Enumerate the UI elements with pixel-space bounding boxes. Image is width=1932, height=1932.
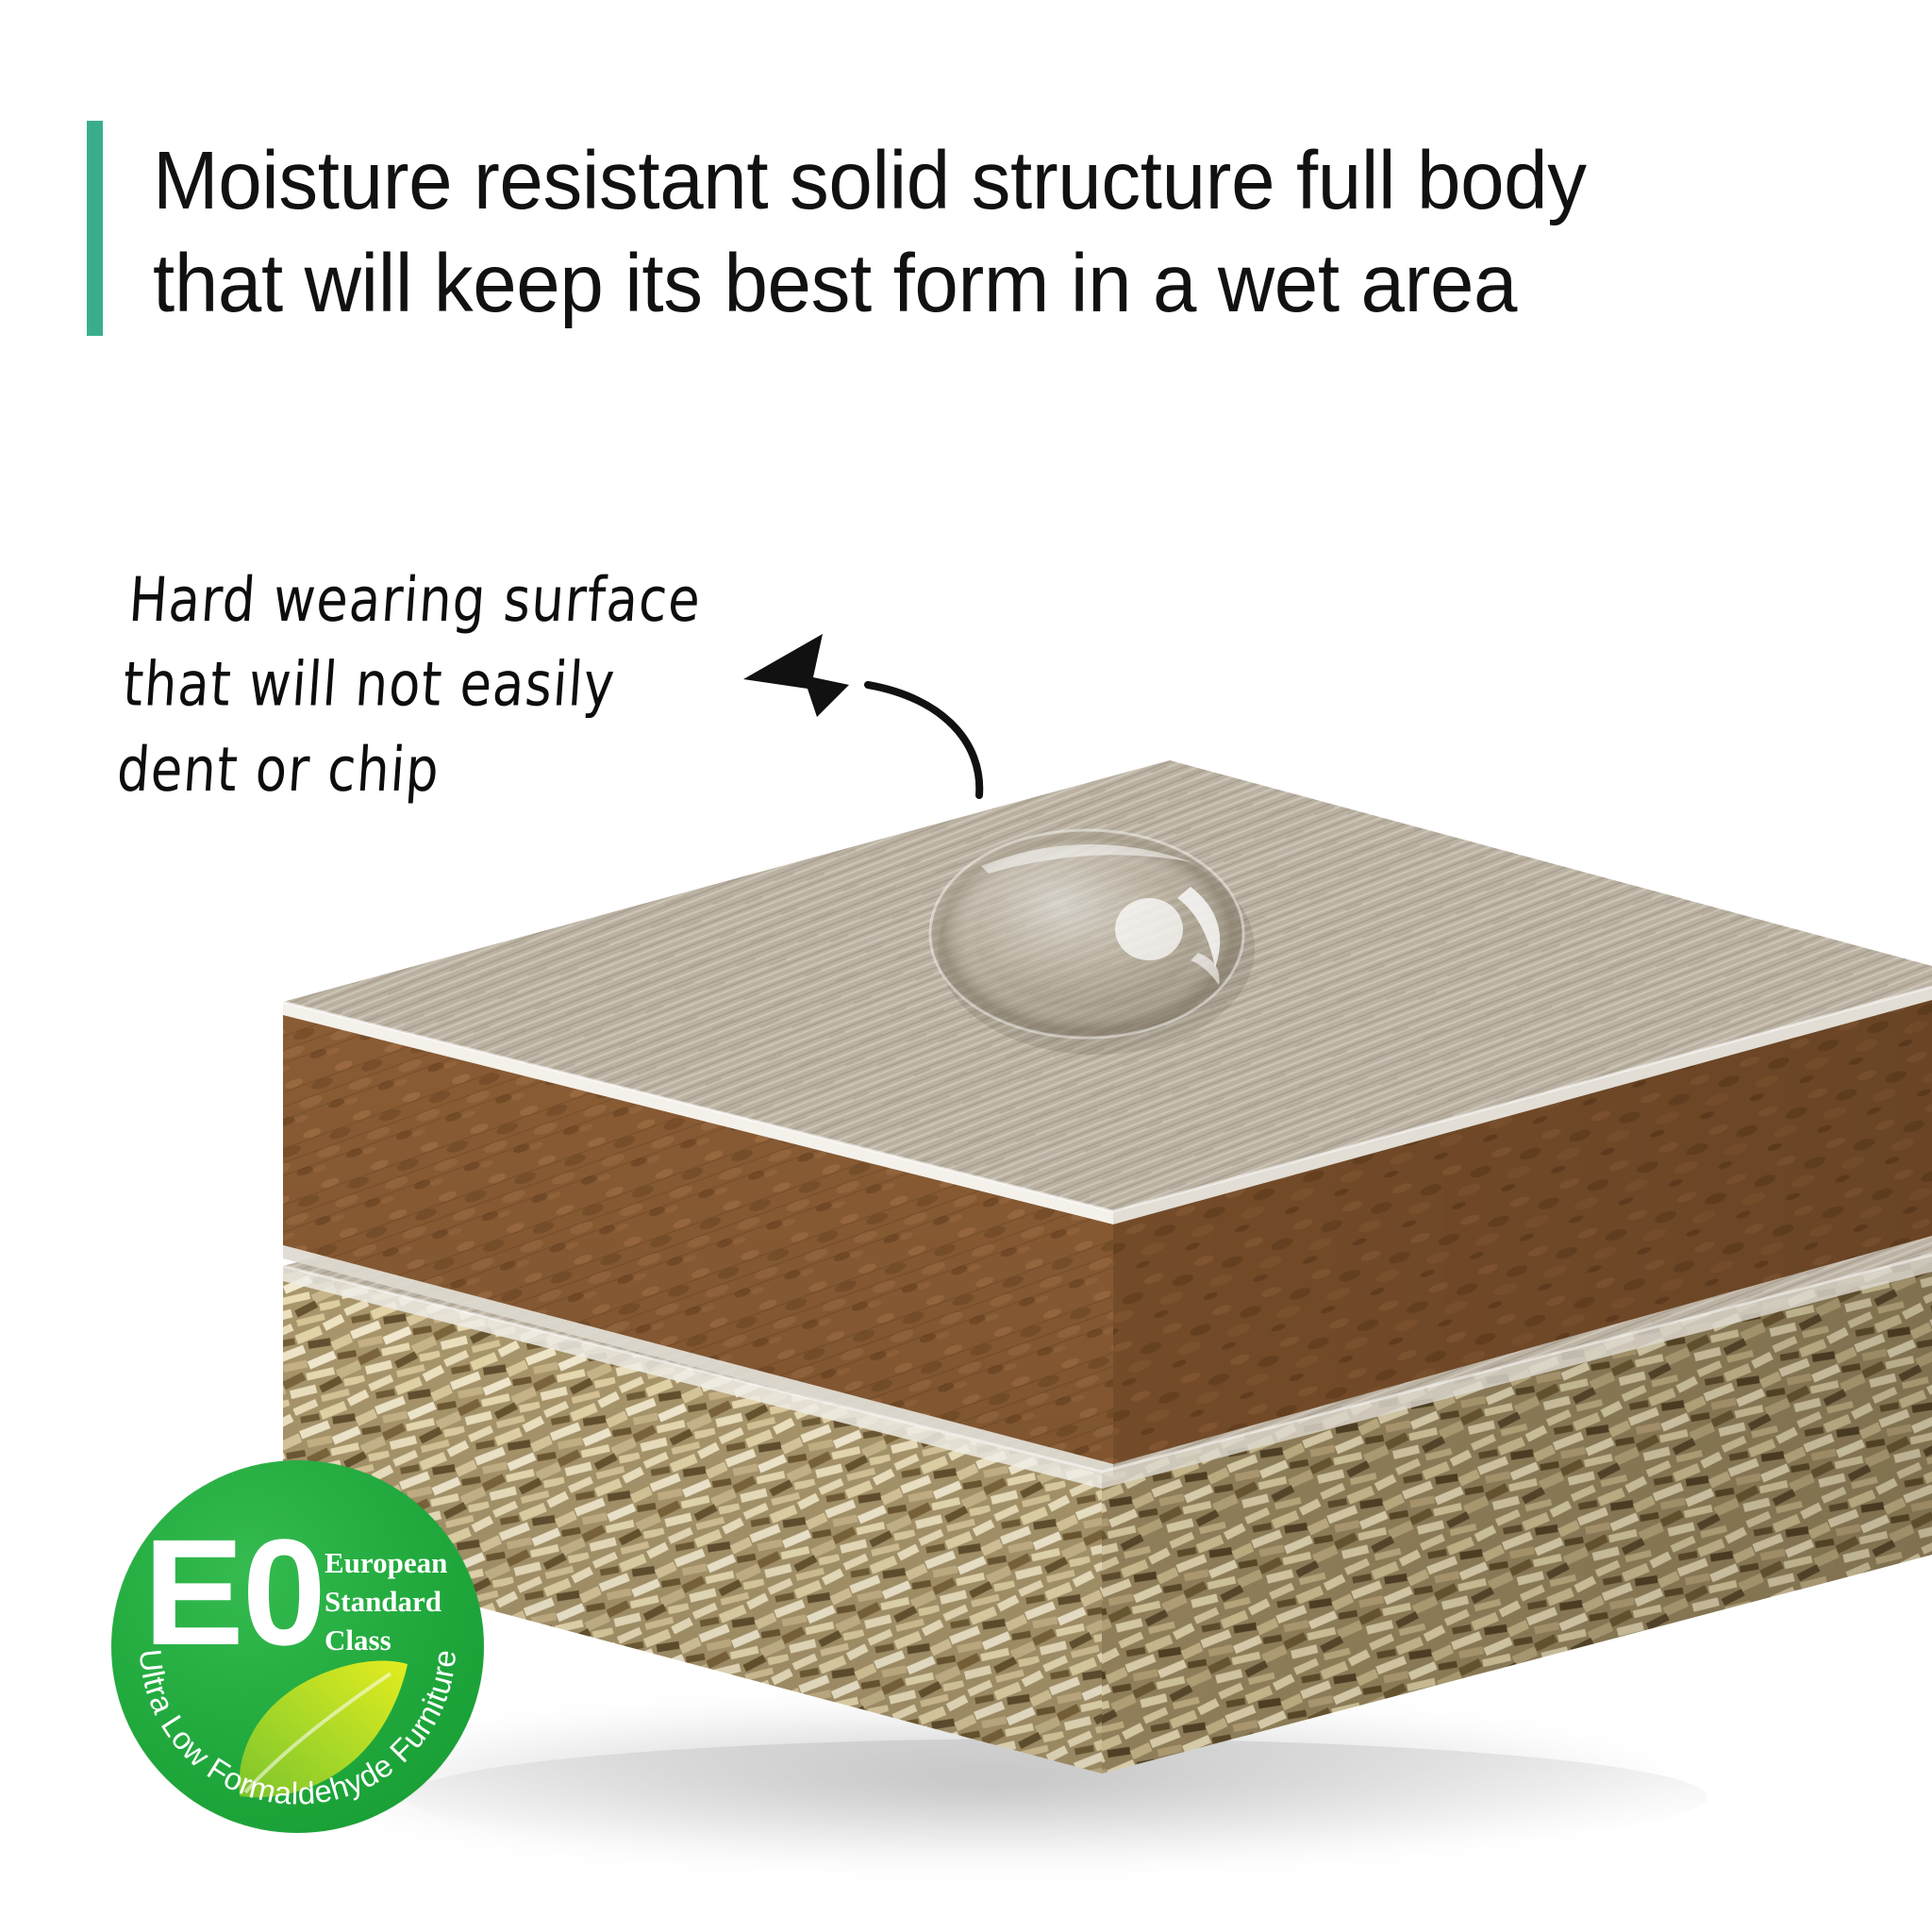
annotation-line-2: that will not easily — [120, 643, 697, 728]
infographic-canvas: Moisture resistant solid structure full … — [0, 0, 1932, 1932]
page-title: Moisture resistant solid structure full … — [153, 121, 1587, 336]
headline-line-1: Moisture resistant solid structure full … — [153, 130, 1587, 233]
headline-line-2: that will keep its best form in a wet ar… — [153, 233, 1587, 336]
annotation-text: Hard wearing surface that will not easil… — [114, 558, 704, 812]
badge-ring-text: Ultra Low Formaldehyde Furniture — [111, 1460, 484, 1833]
badge-ring-label: Ultra Low Formaldehyde Furniture — [133, 1648, 463, 1811]
e0-certification-badge: E0 European Standard Class Ultra Low F — [111, 1460, 484, 1833]
headline-block: Moisture resistant solid structure full … — [87, 121, 1646, 336]
annotation-line-3: dent or chip — [114, 727, 691, 812]
svg-text:Ultra Low Formaldehyde Furnitu: Ultra Low Formaldehyde Furniture — [133, 1648, 463, 1811]
accent-bar — [87, 121, 103, 336]
annotation-line-1: Hard wearing surface — [126, 558, 704, 643]
annotation-arrow — [726, 630, 1047, 838]
